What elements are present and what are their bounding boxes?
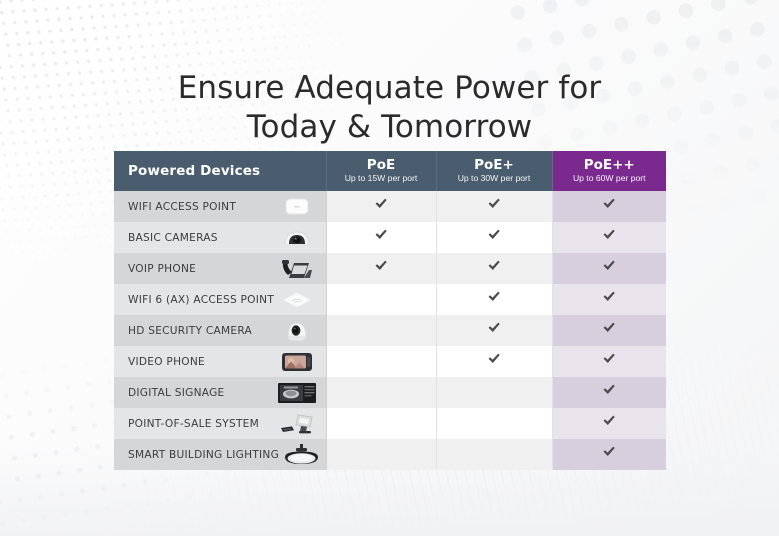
poe-plus-plus-cell — [552, 439, 666, 470]
poe-cell — [326, 346, 436, 377]
device-label: WIFI 6 (AX) ACCESS POINT — [128, 294, 274, 306]
device-label: WIFI ACCESS POINT — [128, 201, 236, 213]
device-cell: POINT-OF-SALE SYSTEM — [114, 408, 326, 439]
table-header-row: Powered Devices PoE Up to 15W per port P… — [114, 151, 666, 191]
column-header-poe-plus-title: PoE+ — [437, 158, 552, 173]
device-cell: VOIP PHONE — [114, 253, 326, 284]
device-cell: DIGITAL SIGNAGE — [114, 377, 326, 408]
slide-canvas: Ensure Adequate Power for Today & Tomorr… — [0, 0, 779, 536]
device-cell: BASIC CAMERAS — [114, 222, 326, 253]
poe-cell — [326, 191, 436, 222]
wifi6-access-point-icon — [274, 285, 320, 314]
table-row: HD SECURITY CAMERA — [114, 315, 666, 346]
table-row: SMART BUILDING LIGHTING — [114, 439, 666, 470]
column-header-poe-subtitle: Up to 15W per port — [327, 174, 436, 184]
check-mark-icon — [602, 445, 616, 459]
device-label: BASIC CAMERAS — [128, 232, 218, 244]
device-label: POINT-OF-SALE SYSTEM — [128, 418, 259, 430]
column-header-powered-devices: Powered Devices — [114, 151, 326, 191]
check-mark-icon — [487, 290, 501, 304]
table-row: VOIP PHONE — [114, 253, 666, 284]
check-mark-icon — [374, 228, 388, 242]
device-label: VOIP PHONE — [128, 263, 196, 275]
poe-plus-cell — [436, 315, 552, 346]
poe-plus-plus-cell — [552, 315, 666, 346]
device-label: DIGITAL SIGNAGE — [128, 387, 224, 399]
poe-plus-cell — [436, 408, 552, 439]
check-mark-icon — [602, 259, 616, 273]
device-label: SMART BUILDING LIGHTING — [128, 449, 279, 461]
dome-camera-icon — [274, 223, 320, 252]
poe-cell — [326, 284, 436, 315]
wifi-access-point-icon — [274, 192, 320, 221]
check-mark-icon — [602, 414, 616, 428]
table-header: Powered Devices PoE Up to 15W per port P… — [114, 151, 666, 191]
high-bay-light-icon — [279, 440, 325, 469]
page-title-line-1: Ensure Adequate Power for — [0, 69, 779, 108]
device-label: VIDEO PHONE — [128, 356, 205, 368]
column-header-poe-plus: PoE+ Up to 30W per port — [436, 151, 552, 191]
check-mark-icon — [487, 352, 501, 366]
poe-cell — [326, 315, 436, 346]
poe-plus-cell — [436, 191, 552, 222]
page-title: Ensure Adequate Power for Today & Tomorr… — [0, 69, 779, 147]
poe-plus-cell — [436, 439, 552, 470]
device-cell: WIFI ACCESS POINT — [114, 191, 326, 222]
table-row: DIGITAL SIGNAGE — [114, 377, 666, 408]
poe-plus-plus-cell — [552, 253, 666, 284]
table-row: BASIC CAMERAS — [114, 222, 666, 253]
page-title-line-2: Today & Tomorrow — [0, 108, 779, 147]
table-body: WIFI ACCESS POINTBASIC CAMERASVOIP PHONE… — [114, 191, 666, 470]
column-header-poe-plus-plus: PoE++ Up to 60W per port — [552, 151, 666, 191]
check-mark-icon — [374, 259, 388, 273]
column-header-poe-plus-plus-subtitle: Up to 60W per port — [553, 174, 667, 184]
table-row: WIFI ACCESS POINT — [114, 191, 666, 222]
device-cell: SMART BUILDING LIGHTING — [114, 439, 326, 470]
check-mark-icon — [602, 290, 616, 304]
poe-plus-plus-cell — [552, 284, 666, 315]
check-mark-icon — [487, 259, 501, 273]
check-mark-icon — [487, 321, 501, 335]
poe-plus-cell — [436, 284, 552, 315]
device-cell: WIFI 6 (AX) ACCESS POINT — [114, 284, 326, 315]
device-cell: VIDEO PHONE — [114, 346, 326, 377]
desk-phone-icon — [274, 254, 320, 283]
digital-signage-icon — [274, 378, 320, 407]
check-mark-icon — [602, 383, 616, 397]
device-cell: HD SECURITY CAMERA — [114, 315, 326, 346]
table-row: VIDEO PHONE — [114, 346, 666, 377]
poe-plus-cell — [436, 222, 552, 253]
check-mark-icon — [487, 228, 501, 242]
column-header-poe-plus-plus-title: PoE++ — [553, 158, 667, 173]
poe-comparison-table-wrapper: Powered Devices PoE Up to 15W per port P… — [114, 151, 666, 470]
check-mark-icon — [602, 228, 616, 242]
poe-plus-plus-cell — [552, 191, 666, 222]
poe-comparison-table: Powered Devices PoE Up to 15W per port P… — [114, 151, 666, 470]
turret-camera-icon — [274, 316, 320, 345]
check-mark-icon — [487, 197, 501, 211]
check-mark-icon — [602, 321, 616, 335]
column-header-poe: PoE Up to 15W per port — [326, 151, 436, 191]
poe-cell — [326, 377, 436, 408]
poe-cell — [326, 222, 436, 253]
poe-plus-cell — [436, 346, 552, 377]
point-of-sale-icon — [274, 409, 320, 438]
column-header-poe-title: PoE — [327, 158, 436, 173]
poe-plus-plus-cell — [552, 222, 666, 253]
poe-plus-plus-cell — [552, 377, 666, 408]
poe-cell — [326, 408, 436, 439]
check-mark-icon — [602, 197, 616, 211]
poe-plus-cell — [436, 253, 552, 284]
table-row: POINT-OF-SALE SYSTEM — [114, 408, 666, 439]
column-header-poe-plus-subtitle: Up to 30W per port — [437, 174, 552, 184]
device-label: HD SECURITY CAMERA — [128, 325, 252, 337]
check-mark-icon — [374, 197, 388, 211]
poe-plus-plus-cell — [552, 408, 666, 439]
poe-plus-cell — [436, 377, 552, 408]
video-phone-icon — [274, 347, 320, 376]
poe-plus-plus-cell — [552, 346, 666, 377]
check-mark-icon — [602, 352, 616, 366]
table-row: WIFI 6 (AX) ACCESS POINT — [114, 284, 666, 315]
poe-cell — [326, 439, 436, 470]
poe-cell — [326, 253, 436, 284]
